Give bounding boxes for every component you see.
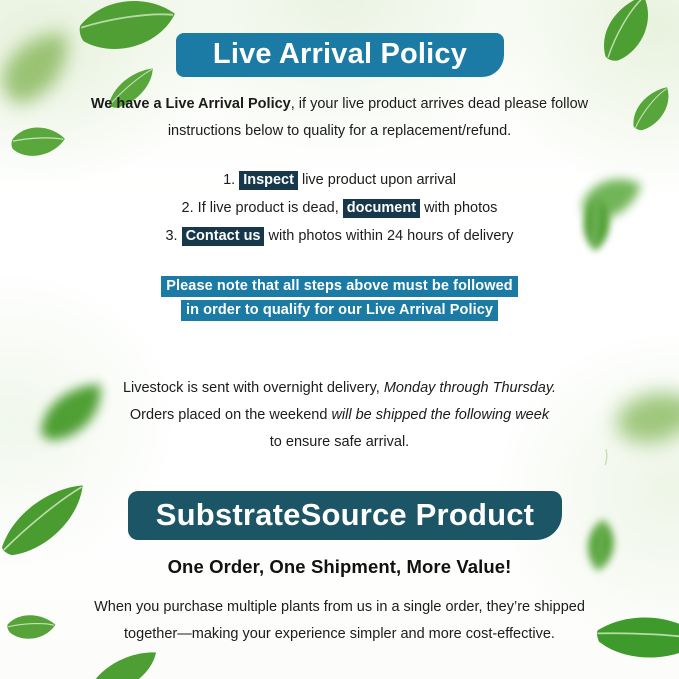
- step-1-highlight: Inspect: [239, 171, 298, 190]
- leaf-icon: [83, 645, 163, 679]
- steps-list: 1. Inspect live product upon arrival 2. …: [0, 166, 679, 250]
- step-1-text: live product upon arrival: [302, 172, 456, 188]
- policy-note-line-2-text: in order to qualify for our Live Arrival…: [181, 300, 498, 321]
- substratesource-product-title: SubstrateSource Product: [156, 497, 534, 533]
- livestock-line-3: to ensure safe arrival.: [0, 429, 679, 456]
- step-3-number: 3.: [165, 228, 177, 244]
- step-2-number: 2.: [182, 200, 194, 216]
- value-subheading: One Order, One Shipment, More Value!: [0, 556, 679, 578]
- leaf-icon: [71, 0, 182, 74]
- step-2-text-after: with photos: [424, 200, 497, 216]
- bundle-shipping-paragraph: When you purchase multiple plants from u…: [0, 594, 679, 648]
- livestock-line-2-normal: Orders placed on the weekend: [130, 407, 328, 423]
- step-1-number: 1.: [223, 172, 235, 188]
- live-arrival-policy-banner: Live Arrival Policy: [176, 33, 504, 77]
- step-3-text: with photos within 24 hours of delivery: [269, 228, 514, 244]
- substratesource-product-banner: SubstrateSource Product: [128, 491, 562, 540]
- livestock-line-2-italic: will be shipped the following week: [331, 407, 549, 423]
- livestock-line-1: Livestock is sent with overnight deliver…: [0, 375, 679, 402]
- step-item-2: 2. If live product is dead, document wit…: [0, 194, 679, 222]
- step-2-highlight: document: [343, 199, 420, 218]
- livestock-shipping-paragraph: Livestock is sent with overnight deliver…: [0, 375, 679, 456]
- step-item-3: 3. Contact us with photos within 24 hour…: [0, 222, 679, 250]
- live-arrival-policy-title: Live Arrival Policy: [213, 38, 467, 71]
- livestock-line-1-normal: Livestock is sent with overnight deliver…: [123, 380, 380, 396]
- bundle-line-2: together—making your experience simpler …: [0, 621, 679, 648]
- intro-line-1-bold: We have a Live Arrival Policy: [91, 96, 291, 112]
- intro-paragraph: We have a Live Arrival Policy, if your l…: [0, 91, 679, 145]
- livestock-line-2: Orders placed on the weekend will be shi…: [0, 402, 679, 429]
- intro-line-1-rest: , if your live product arrives dead plea…: [291, 96, 588, 112]
- policy-note-block: Please note that all steps above must be…: [0, 274, 679, 322]
- leaf-icon: [582, 0, 673, 73]
- bundle-line-1: When you purchase multiple plants from u…: [0, 594, 679, 621]
- policy-note-line-1: Please note that all steps above must be…: [0, 274, 679, 298]
- leaf-icon: [0, 477, 98, 565]
- step-2-text-before: If live product is dead,: [198, 200, 339, 216]
- promo-graphic: Live Arrival Policy We have a Live Arriv…: [0, 0, 679, 679]
- step-3-highlight: Contact us: [182, 227, 265, 246]
- livestock-line-1-italic: Monday through Thursday.: [384, 380, 556, 396]
- step-item-1: 1. Inspect live product upon arrival: [0, 166, 679, 194]
- policy-note-line-1-text: Please note that all steps above must be…: [161, 276, 518, 297]
- policy-note-line-2: in order to qualify for our Live Arrival…: [0, 298, 679, 322]
- intro-line-1: We have a Live Arrival Policy, if your l…: [0, 91, 679, 118]
- intro-line-2: instructions below to quality for a repl…: [0, 118, 679, 145]
